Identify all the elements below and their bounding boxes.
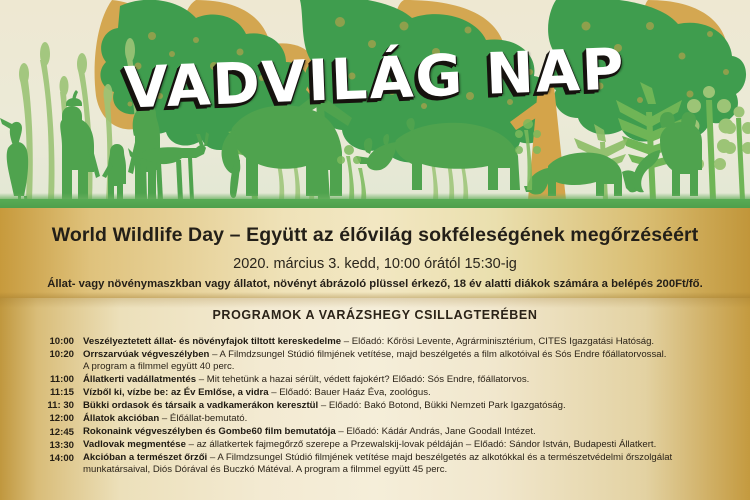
banner-illustration: [0, 0, 750, 208]
program-title: Akcióban a természet őrzői: [83, 452, 207, 463]
program-row: 11:15Vízből ki, vízbe be: az Év Emlőse, …: [0, 387, 750, 399]
program-entry: Veszélyeztetett állat- és növényfajok ti…: [74, 336, 736, 348]
program-title: Állatok akcióban: [83, 413, 159, 424]
program-time: 13:30: [40, 439, 74, 450]
event-info-band: World Wildlife Day – Együtt az élővilág …: [0, 208, 750, 298]
program-list: 10:00Veszélyeztetett állat- és növényfaj…: [0, 336, 750, 477]
program-entry: Rokonaink végveszélyben és Gombe60 film …: [74, 426, 736, 438]
program-description: – Mit tehetünk a hazai sérült, védett fa…: [196, 374, 529, 385]
program-time: 12:45: [40, 426, 74, 437]
program-continuation: A program a filmmel együtt 40 perc.: [83, 361, 736, 373]
program-description: – A Filmdzsungel Stúdió filmjének vetíté…: [209, 349, 666, 360]
program-entry: Vízből ki, vízbe be: az Év Emlőse, a vid…: [74, 387, 736, 399]
program-time: 14:00: [40, 452, 74, 463]
program-title: Bükki ordasok és társaik a vadkamerákon …: [83, 400, 318, 411]
program-row: 10:00Veszélyeztetett állat- és növényfaj…: [0, 336, 750, 348]
program-time: 10:00: [40, 336, 74, 347]
program-schedule-section: PROGRAMOK A VARÁZSHEGY CSILLAGTERÉBEN 10…: [0, 298, 750, 500]
program-title: Orrszarvúak végveszélyben: [83, 349, 209, 360]
program-row: 12:45Rokonaink végveszélyben és Gombe60 …: [0, 426, 750, 438]
program-row: 12:00Állatok akcióban – Élőállat-bemutat…: [0, 413, 750, 425]
program-row: 11:00Állatkerti vadállatmentés – Mit teh…: [0, 374, 750, 386]
program-entry: Bükki ordasok és társaik a vadkamerákon …: [74, 400, 736, 412]
event-headline: World Wildlife Day – Együtt az élővilág …: [0, 224, 750, 247]
program-title: Rokonaink végveszélyben és Gombe60 film …: [83, 426, 336, 437]
program-entry: Állatok akcióban – Élőállat-bemutató.: [74, 413, 736, 425]
program-title: Vízből ki, vízbe be: az Év Emlőse, a vid…: [83, 387, 269, 398]
program-time: 12:00: [40, 413, 74, 424]
program-row: 11: 30Bükki ordasok és társaik a vadkame…: [0, 400, 750, 412]
program-time: 11: 30: [40, 400, 74, 411]
program-entry: Orrszarvúak végveszélyben – A Filmdzsung…: [74, 349, 736, 372]
program-description: – Előadó: Bauer Haáz Éva, zoológus.: [269, 387, 431, 398]
program-entry: Vadlovak megmentése – az állatkertek faj…: [74, 439, 736, 451]
program-time: 10:20: [40, 349, 74, 360]
program-entry: Állatkerti vadállatmentés – Mit tehetünk…: [74, 374, 736, 386]
wildlife-silhouette-scene: [0, 0, 750, 208]
program-description: – A Filmdzsungel Stúdió filmjének vetíté…: [207, 452, 672, 463]
program-description: – Előadó: Kőrösi Levente, Agrárminisztér…: [341, 336, 654, 347]
program-time: 11:00: [40, 374, 74, 385]
program-description: – Élőállat-bemutató.: [159, 413, 247, 424]
program-entry: Akcióban a természet őrzői – A Filmdzsun…: [74, 452, 736, 475]
program-row: 14:00Akcióban a természet őrzői – A Film…: [0, 452, 750, 475]
program-description: – az állatkertek fajmegőrző szerepe a Pr…: [186, 439, 656, 450]
program-title: Vadlovak megmentése: [83, 439, 186, 450]
program-description: – Előadó: Kádár András, Jane Goodall Int…: [336, 426, 536, 437]
program-title: Veszélyeztetett állat- és növényfajok ti…: [83, 336, 341, 347]
program-continuation: munkatársaival, Diós Dórával és Buczkó M…: [83, 464, 736, 476]
section-title: PROGRAMOK A VARÁZSHEGY CSILLAGTERÉBEN: [0, 308, 750, 322]
program-row: 10:20Orrszarvúak végveszélyben – A Filmd…: [0, 349, 750, 372]
program-description: – Előadó: Bakó Botond, Bükki Nemzeti Par…: [318, 400, 565, 411]
ground-strip: [0, 199, 750, 208]
event-admission-note: Állat- vagy növénymaszkban vagy állatot,…: [0, 278, 750, 290]
program-row: 13:30Vadlovak megmentése – az állatkerte…: [0, 439, 750, 451]
program-time: 11:15: [40, 387, 74, 398]
program-title: Állatkerti vadállatmentés: [83, 374, 196, 385]
poster-root: VADVILÁG NAP World Wildlife Day – Együtt…: [0, 0, 750, 500]
event-date-line: 2020. március 3. kedd, 10:00 órától 15:3…: [0, 256, 750, 272]
